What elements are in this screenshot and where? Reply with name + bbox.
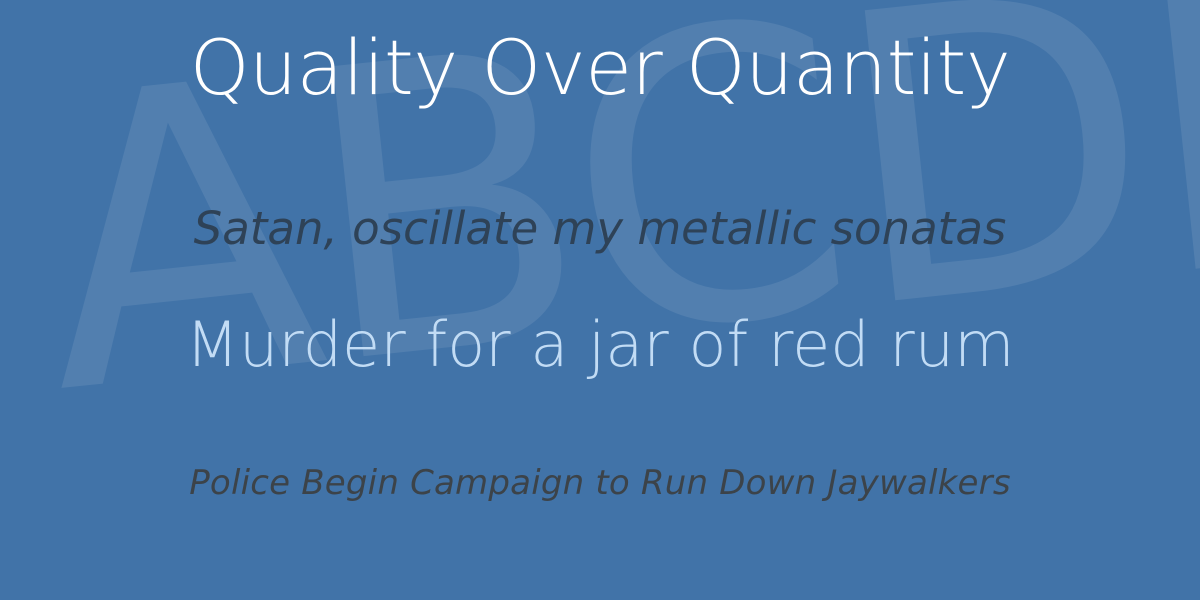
specimen-line-light-palindrome: Murder for a jar of red rum <box>0 312 1200 377</box>
specimen-line-italic-pangram: Satan, oscillate my metallic sonatas <box>0 205 1200 252</box>
font-specimen-canvas: ABCDEF Quality Over Quantity Satan, osci… <box>0 0 1200 600</box>
specimen-line-headline: Quality Over Quantity <box>0 28 1200 108</box>
specimen-lines: Quality Over Quantity Satan, oscillate m… <box>0 0 1200 600</box>
specimen-line-thin-italic-headline: Police Begin Campaign to Run Down Jaywal… <box>0 466 1200 502</box>
